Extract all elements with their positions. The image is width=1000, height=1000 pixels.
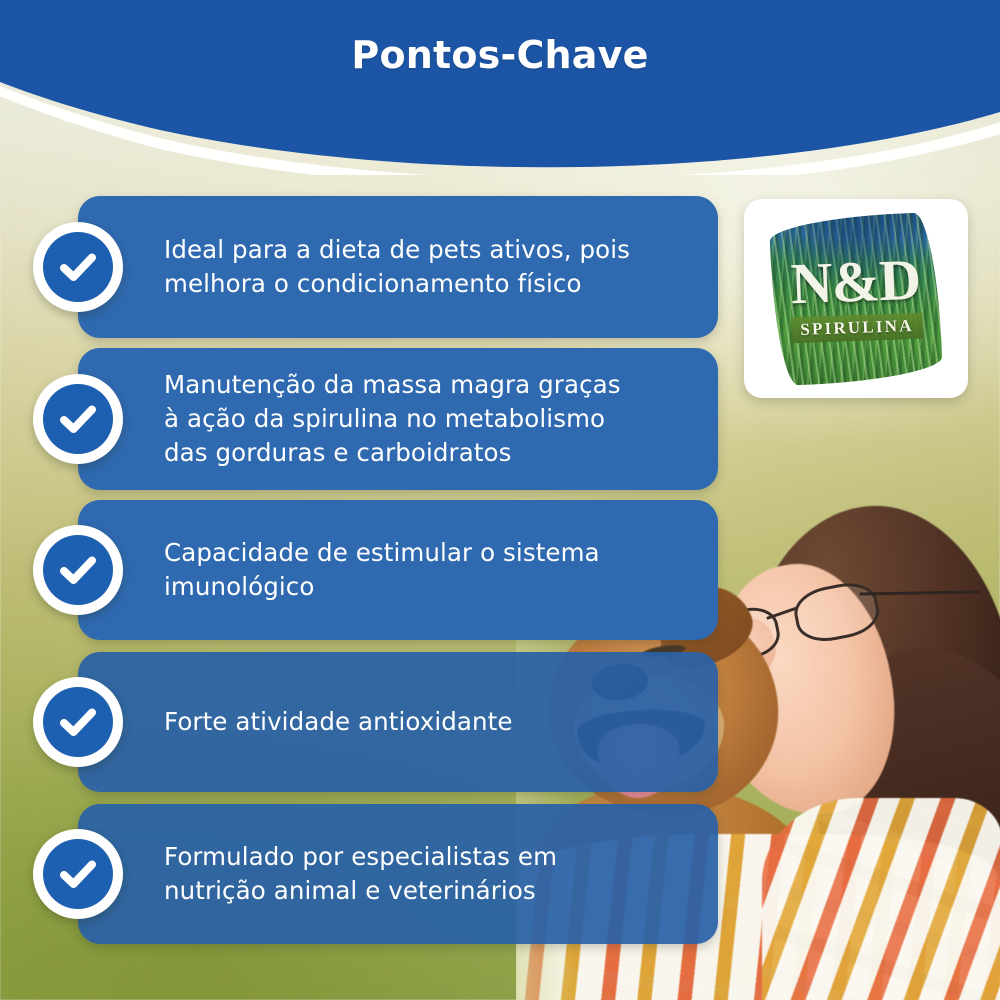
check-icon-inner [43,384,113,454]
bullet-text-3: Capacidade de estimular o sistema imunol… [78,536,626,604]
infographic-poster: Pontos-Chave Ideal para a dieta de pets … [0,0,1000,1000]
leaf-icon: N&D SPIRULINA [769,212,943,386]
spirulina-band: SPIRULINA [791,312,924,343]
bullet-card-5[interactable]: Formulado por especialistas em nutrição … [78,804,718,944]
bullet-card-3[interactable]: Capacidade de estimular o sistema imunol… [78,500,718,640]
check-icon [33,374,123,464]
bullet-card-2[interactable]: Manutenção da massa magra graças à ação … [78,348,718,490]
check-icon [33,525,123,615]
bullet-card-1[interactable]: Ideal para a dieta de pets ativos, pois … [78,196,718,338]
check-icon [33,677,123,767]
bullet-text-4: Forte atividade antioxidante [78,705,539,739]
check-icon [33,829,123,919]
bullet-text-1: Ideal para a dieta de pets ativos, pois … [78,233,656,301]
check-icon-inner [43,232,113,302]
bullet-list: Ideal para a dieta de pets ativos, pois … [0,0,1000,1000]
spirulina-label: SPIRULINA [800,316,914,340]
bullet-text-2: Manutenção da massa magra graças à ação … [78,368,647,470]
check-icon-inner [43,839,113,909]
check-icon-inner [43,535,113,605]
check-icon [33,222,123,312]
brand-logo-card: N&D SPIRULINA [744,199,968,398]
check-icon-inner [43,687,113,757]
bullet-card-4[interactable]: Forte atividade antioxidante [78,652,718,792]
bullet-text-5: Formulado por especialistas em nutrição … [78,840,583,908]
brand-name: N&D [770,248,940,316]
